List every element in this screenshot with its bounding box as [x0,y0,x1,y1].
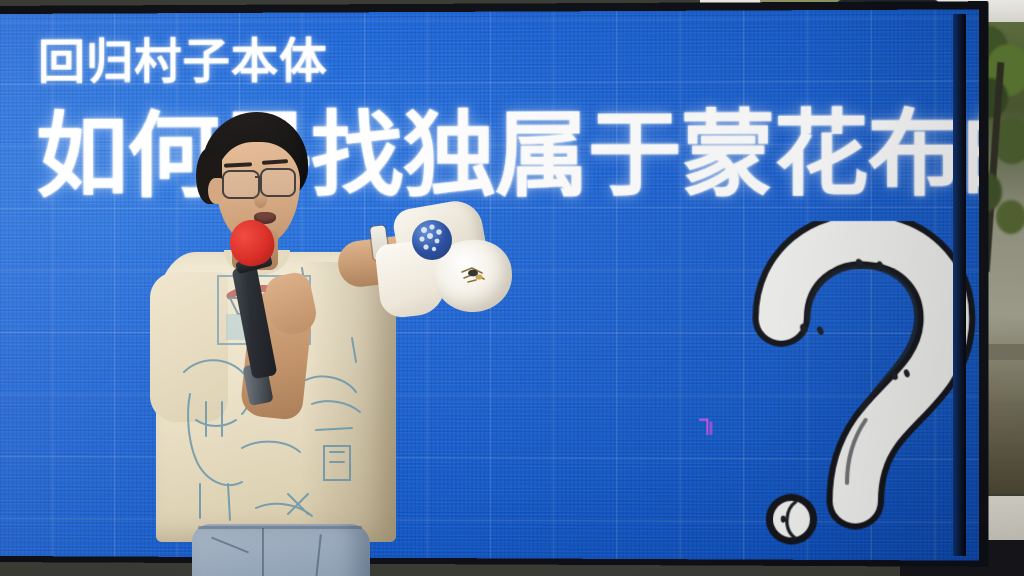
foliage-blob [996,200,1024,234]
ball-pattern [412,220,452,260]
speaker-ear [208,178,223,204]
jeans-pocket [211,537,249,554]
glasses-bridge [255,176,262,178]
jeans-waistband [198,526,362,529]
ball-pattern-icon [412,220,452,260]
speaker-figure [150,112,480,576]
jeans-seam [304,534,322,576]
screenshot-root: 回归村子本体 如何寻找独属于蒙花布的解法? [0,0,1024,576]
screen-right-edge [953,14,966,556]
bowl-motif-icon [454,260,494,290]
bowl-painted-motif [454,260,494,290]
speaker-jeans [192,524,370,576]
jeans-seam [262,528,264,576]
speaker-nose [254,192,267,208]
